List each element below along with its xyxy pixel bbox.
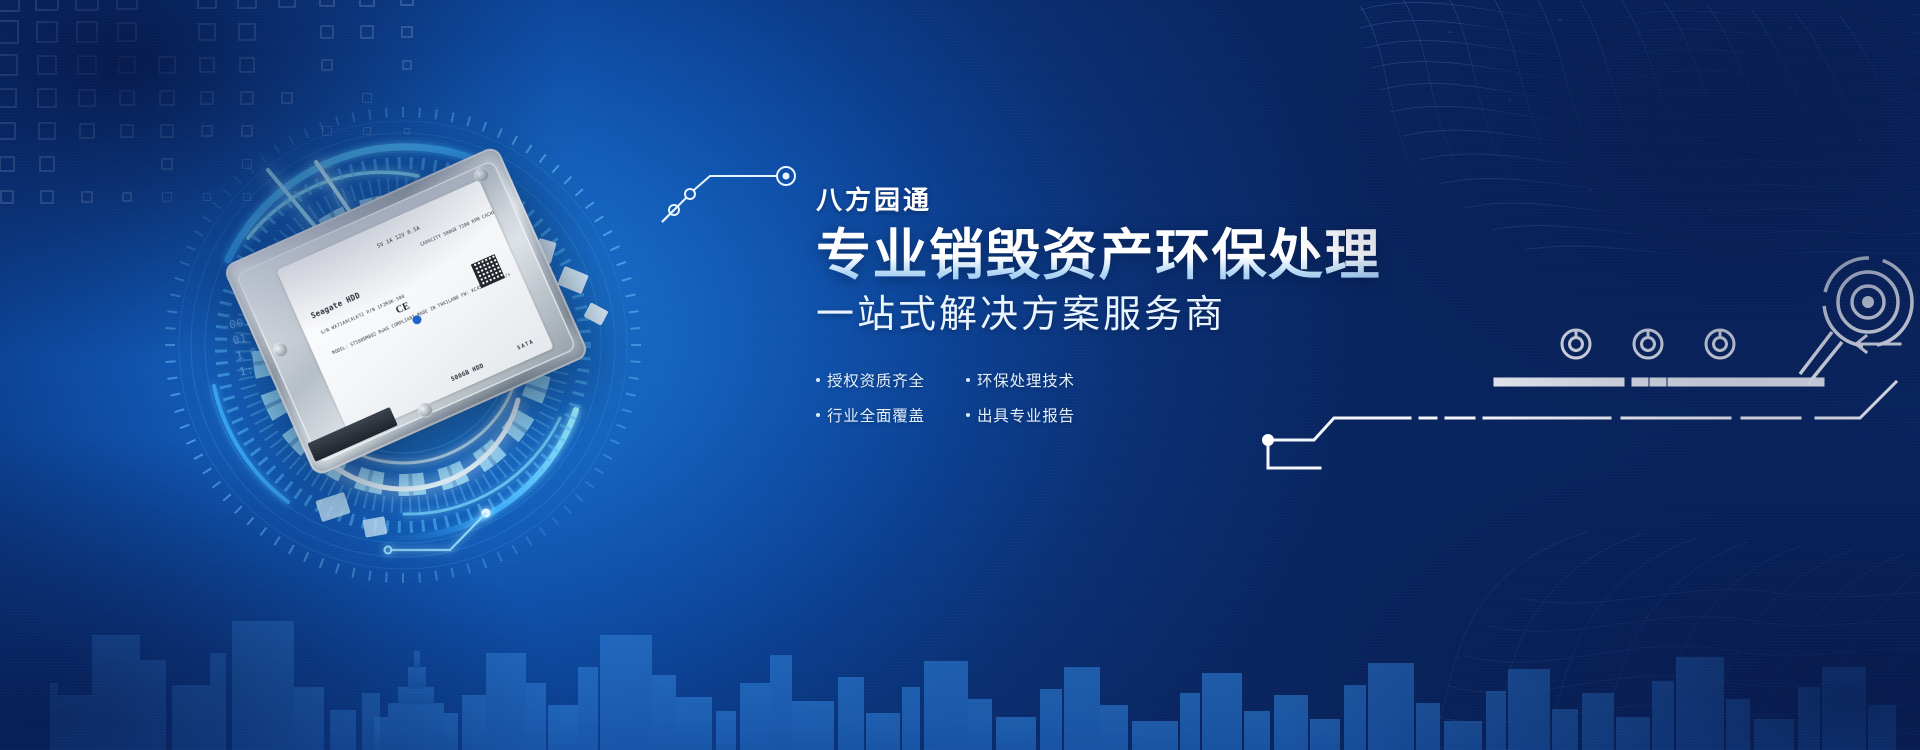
square-grid-cell [36, 21, 59, 44]
square-grid-cell [200, 91, 214, 105]
square-grid-cell [237, 0, 256, 9]
square-grid-cell [78, 89, 96, 107]
square-grid-cell [118, 56, 137, 75]
feature-label: 授权资质齐全 [827, 369, 925, 391]
square-grid-cell [79, 123, 95, 139]
square-grid-cell [402, 60, 413, 71]
ce-mark-icon: CE [394, 301, 411, 317]
connector-line-decoration [660, 170, 820, 230]
square-grid-cell [116, 0, 139, 10]
square-grid-cell [159, 90, 175, 106]
feature-item: 出具专业报告 [966, 404, 1094, 426]
square-grid-cell [0, 190, 14, 204]
square-grid-cell [320, 25, 335, 40]
square-grid-cell [81, 191, 93, 203]
hero-banner: 0010 1001 1001 01 101100 1 0110 1 0 0110… [0, 0, 1920, 750]
hdd-label-model: 500GB HDD [450, 363, 485, 384]
bullet-dot-icon [816, 413, 820, 417]
square-grid-cell [122, 192, 133, 203]
square-grid-cell [0, 20, 19, 44]
bullet-dot-icon [816, 378, 820, 382]
square-grid-cell [119, 90, 136, 107]
square-grid-cell [400, 0, 414, 6]
square-grid-cell [198, 23, 216, 41]
page-subtitle: 一站式解决方案服务商 [816, 293, 1576, 339]
hdd-label-voltage: 5V 1A 12V 0.5A [376, 225, 421, 249]
feature-item: 环保处理技术 [966, 369, 1094, 391]
square-grid-cell [199, 57, 215, 73]
square-grid-cell [238, 23, 255, 40]
square-grid-cell [37, 55, 58, 76]
square-grid-cell [0, 88, 17, 108]
square-grid-cell [240, 91, 253, 104]
hero-copy-block: 八方园通 专业销毁资产环保处理 一站式解决方案服务商 授权资质齐全 环保处理技术… [816, 186, 1576, 426]
square-grid-cell [197, 0, 217, 9]
square-grid-cell [76, 21, 98, 43]
square-grid-cell [37, 88, 56, 107]
bullet-dot-icon [966, 413, 970, 417]
feature-item: 授权资质齐全 [816, 369, 944, 391]
square-grid-cell [120, 124, 135, 139]
square-grid-cell [278, 0, 296, 8]
feature-label: 环保处理技术 [977, 369, 1075, 391]
square-grid-cell [0, 0, 20, 12]
city-skyline-decoration [0, 535, 1920, 750]
square-grid-cell [0, 156, 15, 172]
feature-list: 授权资质齐全 环保处理技术 行业全面覆盖 出具专业报告 [816, 369, 1116, 426]
bullet-dot-icon [966, 378, 970, 382]
square-grid-cell [359, 0, 375, 7]
qr-code-icon [471, 254, 505, 288]
square-grid-cell [0, 122, 16, 140]
square-grid-cell [38, 122, 55, 139]
hdd-label-interface: SATA [517, 339, 536, 352]
square-grid-cell [35, 0, 60, 11]
square-grid-cell [321, 59, 334, 72]
square-grid-cell [77, 55, 97, 75]
square-grid-cell [75, 0, 99, 11]
square-grid-cell [360, 25, 374, 39]
square-grid-cell [0, 54, 18, 76]
square-grid-cell [158, 56, 176, 74]
page-title: 专业销毁资产环保处理 [816, 225, 1576, 287]
square-grid-cell [319, 0, 336, 7]
square-grid-cell [401, 26, 414, 39]
feature-label: 行业全面覆盖 [827, 404, 925, 426]
square-grid-cell [39, 156, 54, 171]
square-grid-cell [362, 93, 372, 103]
square-grid-cell [117, 22, 138, 43]
square-grid-cell [40, 190, 53, 203]
square-grid-cell [281, 92, 293, 104]
feature-item: 行业全面覆盖 [816, 404, 944, 426]
feature-label: 出具专业报告 [977, 404, 1075, 426]
brand-name: 八方园通 [816, 186, 1576, 215]
square-grid-cell [239, 57, 254, 72]
